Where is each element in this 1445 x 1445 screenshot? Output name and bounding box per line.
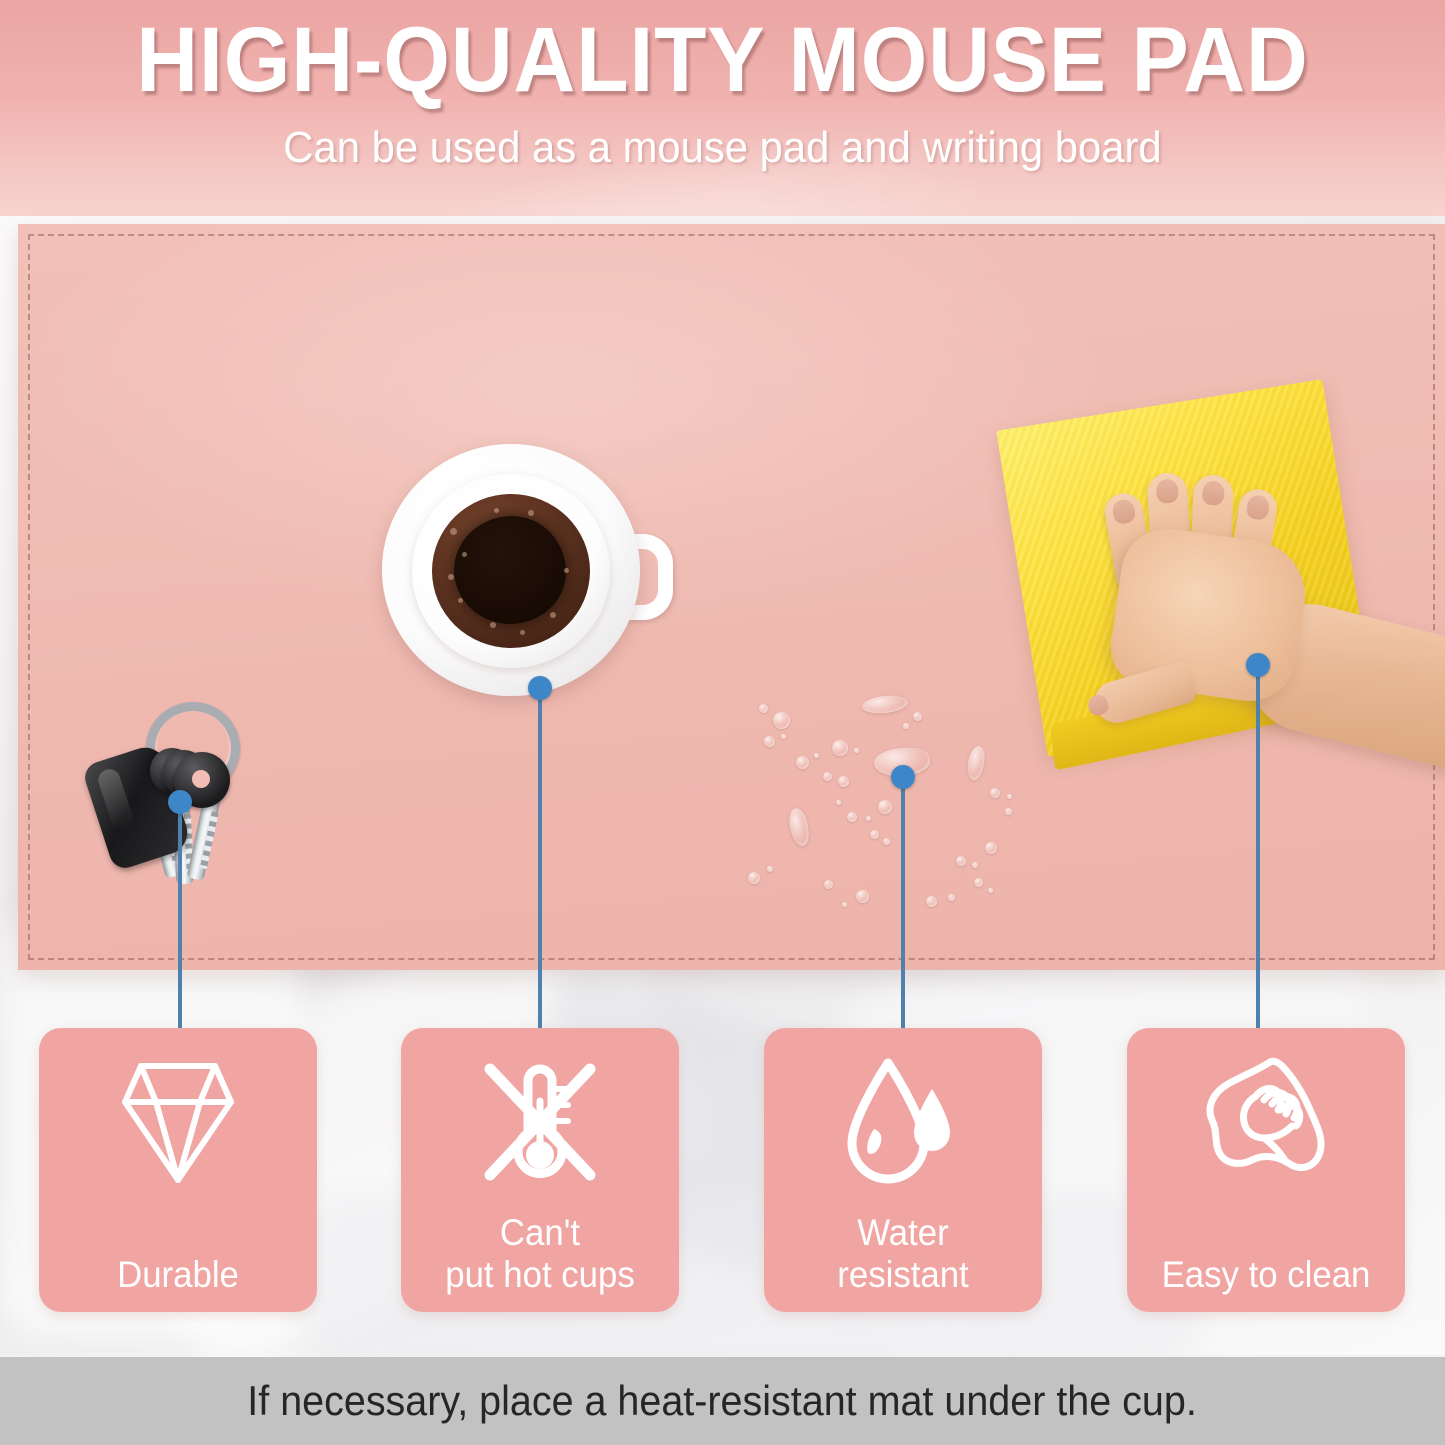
feature-card-durable[interactable]: Durable — [39, 1028, 317, 1312]
feature-card-water-resistant[interactable]: Water resistant — [764, 1028, 1042, 1312]
no-hot-cup-thermometer-icon — [401, 1046, 679, 1198]
water-droplet — [956, 856, 966, 866]
feature-card-easy-clean[interactable]: Easy to clean — [1127, 1028, 1405, 1312]
water-droplet — [988, 888, 993, 893]
footer-note-bar: If necessary, place a heat-resistant mat… — [0, 1357, 1445, 1445]
water-droplet — [767, 866, 773, 872]
coffee-bubble — [520, 630, 525, 635]
water-droplet — [903, 723, 909, 729]
water-droplet — [856, 890, 869, 903]
water-droplet — [878, 800, 892, 814]
coffee-bubble — [450, 528, 457, 535]
water-droplet — [974, 878, 983, 887]
water-droplet — [787, 807, 810, 847]
water-droplet — [838, 776, 849, 787]
feature-label: Durable — [47, 1254, 308, 1296]
feature-card-no-hot-cups[interactable]: Can't put hot cups — [401, 1028, 679, 1312]
water-droplet — [870, 830, 879, 839]
product-infographic: HIGH-QUALITY MOUSE PAD Can be used as a … — [0, 0, 1445, 1445]
footer-note: If necessary, place a heat-resistant mat… — [248, 1377, 1197, 1425]
water-droplet — [824, 880, 833, 889]
fingernail — [1156, 478, 1180, 503]
water-droplet — [748, 872, 760, 884]
page-subtitle: Can be used as a mouse pad and writing b… — [36, 122, 1409, 174]
water-droplet — [866, 816, 871, 821]
water-droplet — [985, 842, 997, 854]
diamond-icon — [39, 1046, 317, 1198]
coffee-bubble — [564, 568, 569, 573]
water-droplet — [854, 748, 859, 753]
water-drop-icon — [764, 1046, 1042, 1198]
wiping-hand-cloth-icon — [1127, 1046, 1405, 1198]
marker-no-hot-cups[interactable] — [528, 676, 552, 700]
coffee-liquid — [432, 494, 590, 648]
fingernail — [1111, 498, 1137, 525]
marker-water-resistant[interactable] — [891, 765, 915, 789]
connector-line-no-hot-cups — [538, 688, 542, 1028]
water-droplet — [1005, 808, 1012, 815]
coffee-bubble — [494, 508, 499, 513]
water-droplet — [913, 712, 922, 721]
water-droplet — [990, 788, 1000, 798]
water-droplet — [823, 772, 832, 781]
connector-line-durable — [178, 802, 182, 1028]
marker-easy-clean[interactable] — [1246, 653, 1270, 677]
water-droplet — [781, 734, 786, 739]
marker-durable[interactable] — [168, 790, 192, 814]
water-droplet — [836, 800, 841, 805]
fingernail — [1202, 481, 1225, 506]
coffee-bubble — [448, 574, 454, 580]
water-droplet — [842, 902, 847, 907]
water-droplet — [883, 838, 890, 845]
feature-label: Water resistant — [772, 1212, 1033, 1296]
fingernail — [1245, 494, 1270, 521]
water-droplet — [972, 862, 978, 868]
water-droplet — [832, 740, 848, 756]
page-title: HIGH-QUALITY MOUSE PAD — [51, 12, 1395, 108]
coffee-cup-object — [382, 436, 682, 706]
coffee-bubble — [462, 552, 467, 557]
feature-label: Easy to clean — [1135, 1254, 1396, 1296]
water-droplet — [759, 704, 768, 713]
connector-line-easy-clean — [1256, 665, 1260, 1028]
water-droplet — [926, 896, 937, 907]
coffee-crema-ring — [454, 516, 566, 624]
water-droplet — [965, 745, 988, 782]
water-droplet — [814, 753, 819, 758]
coffee-bubble — [490, 622, 496, 628]
water-droplet — [861, 694, 909, 716]
water-droplet — [847, 812, 857, 822]
water-droplet — [764, 736, 775, 747]
hand-with-cloth-object — [1010, 385, 1445, 795]
feature-label: Can't put hot cups — [409, 1212, 670, 1296]
water-droplets-object — [720, 690, 1040, 930]
water-droplet — [773, 712, 790, 729]
water-droplet — [948, 894, 955, 901]
coffee-bubble — [528, 510, 534, 516]
header-banner: HIGH-QUALITY MOUSE PAD Can be used as a … — [0, 0, 1445, 216]
coffee-bubble — [458, 598, 463, 603]
water-droplet — [796, 756, 809, 769]
coffee-bubble — [550, 612, 556, 618]
connector-line-water-resistant — [901, 777, 905, 1028]
